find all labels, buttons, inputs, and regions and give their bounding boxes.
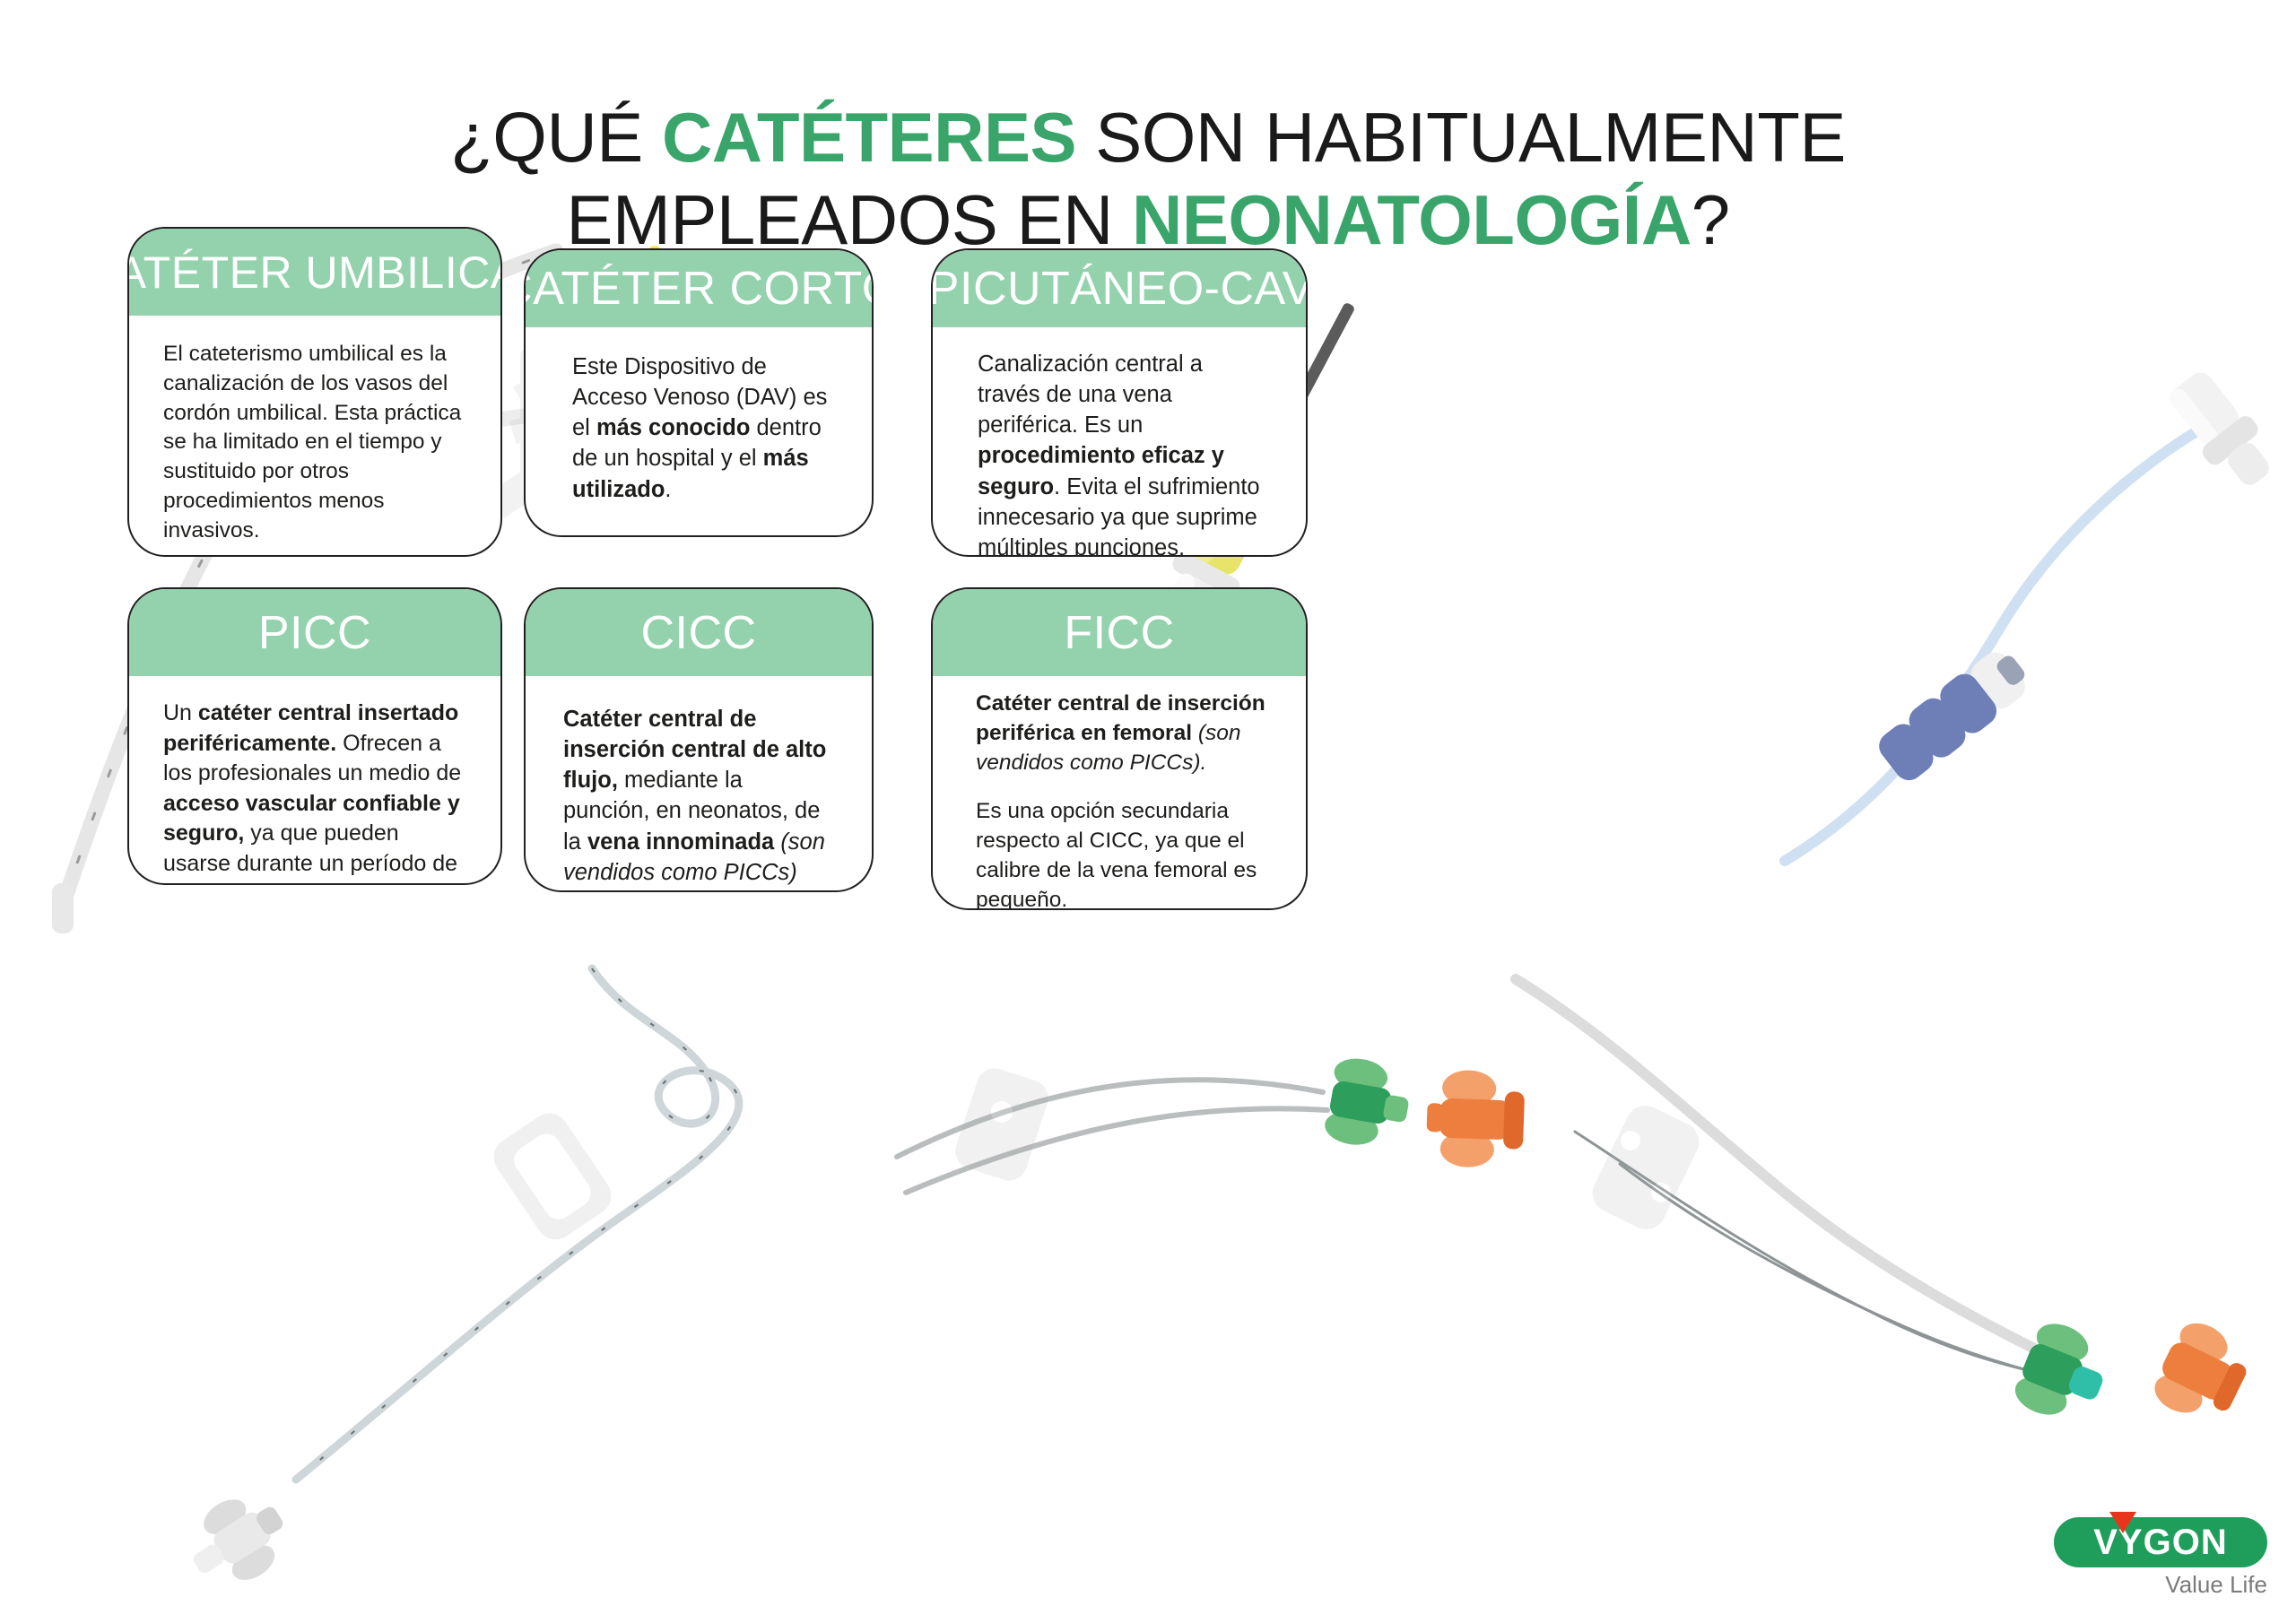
card-body-ficc: Catéter central de inserción periférica …	[949, 690, 1297, 910]
title-line2-post: ?	[1692, 180, 1730, 259]
card-paragraph: Catéter central de inserción periférica …	[976, 690, 1270, 777]
card-cateter-corto: CATÉTER CORTO Este Dispositivo de Acceso…	[524, 248, 874, 537]
card-title-umbilical: CATÉTER UMBILICAL	[127, 247, 502, 299]
card-header-picc: PICC	[129, 589, 500, 676]
card-cateter-umbilical: CATÉTER UMBILICAL El cateterismo umbilic…	[127, 227, 502, 557]
card-header-corto: CATÉTER CORTO	[526, 250, 872, 327]
title-line1-highlight: CATÉTERES	[662, 98, 1076, 177]
card-paragraph: Catéter central de inserción central de …	[563, 704, 834, 888]
card-picc: PICC Un catéter central insertado perifé…	[127, 587, 502, 885]
logo-tagline: Value Life	[2054, 1571, 2267, 1599]
infographic-canvas: ¿QUÉ CATÉTERES SON HABITUALMENTE EMPLEAD…	[0, 0, 2296, 1623]
picc-catheter-art	[175, 968, 739, 1601]
card-title-corto: CATÉTER CORTO	[524, 262, 874, 316]
card-title-picc: PICC	[258, 606, 371, 660]
card-paragraph: Sin embargo presenta limitaciones tales …	[572, 532, 832, 537]
vygon-logo: VYGON Value Life	[2054, 1512, 2267, 1605]
card-paragraph: El cateterismo umbilical es la canalizac…	[163, 340, 466, 546]
card-paragraph: Un catéter central insertado periféricam…	[163, 699, 466, 885]
card-body-corto: Este Dispositivo de Acceso Venoso (DAV) …	[545, 352, 859, 537]
card-paragraph: Canalización central a través de una ven…	[978, 349, 1266, 557]
card-cicc: CICC Catéter central de inserción centra…	[524, 587, 874, 892]
card-paragraph: Es una opción secundaria respecto al CIC…	[976, 797, 1270, 910]
title-line1-post: SON HABITUALMENTE	[1076, 98, 1846, 177]
card-epicutaneo-cava: EPICUTÁNEO-CAVA Canalización central a t…	[931, 248, 1308, 557]
cicc-ficc-catheter-art	[897, 979, 2257, 1432]
epicutaneo-catheter-art	[1785, 363, 2284, 861]
logo-wordmark: VYGON	[2054, 1517, 2267, 1567]
card-body-cicc: Catéter central de inserción central de …	[536, 704, 861, 892]
card-body-umbilical: El cateterismo umbilical es la canalizac…	[136, 340, 493, 557]
card-title-cicc: CICC	[640, 606, 756, 660]
card-header-cicc: CICC	[526, 589, 872, 676]
card-header-ficc: FICC	[933, 589, 1306, 676]
title-line-1: ¿QUÉ CATÉTERES SON HABITUALMENTE	[0, 96, 2296, 178]
card-body-epicutaneo: Canalización central a través de una ven…	[951, 349, 1293, 557]
card-title-epicutaneo: EPICUTÁNEO-CAVA	[931, 262, 1308, 316]
card-body-picc: Un catéter central insertado periféricam…	[136, 699, 493, 885]
card-ficc: FICC Catéter central de inserción perifé…	[931, 587, 1308, 910]
card-paragraph: Este Dispositivo de Acceso Venoso (DAV) …	[572, 352, 832, 505]
card-header-umbilical: CATÉTER UMBILICAL	[129, 229, 500, 316]
card-title-ficc: FICC	[1064, 606, 1174, 660]
card-header-epicutaneo: EPICUTÁNEO-CAVA	[933, 250, 1306, 327]
title-line1-pre: ¿QUÉ	[450, 98, 662, 177]
logo-triangle-icon	[2109, 1512, 2136, 1533]
